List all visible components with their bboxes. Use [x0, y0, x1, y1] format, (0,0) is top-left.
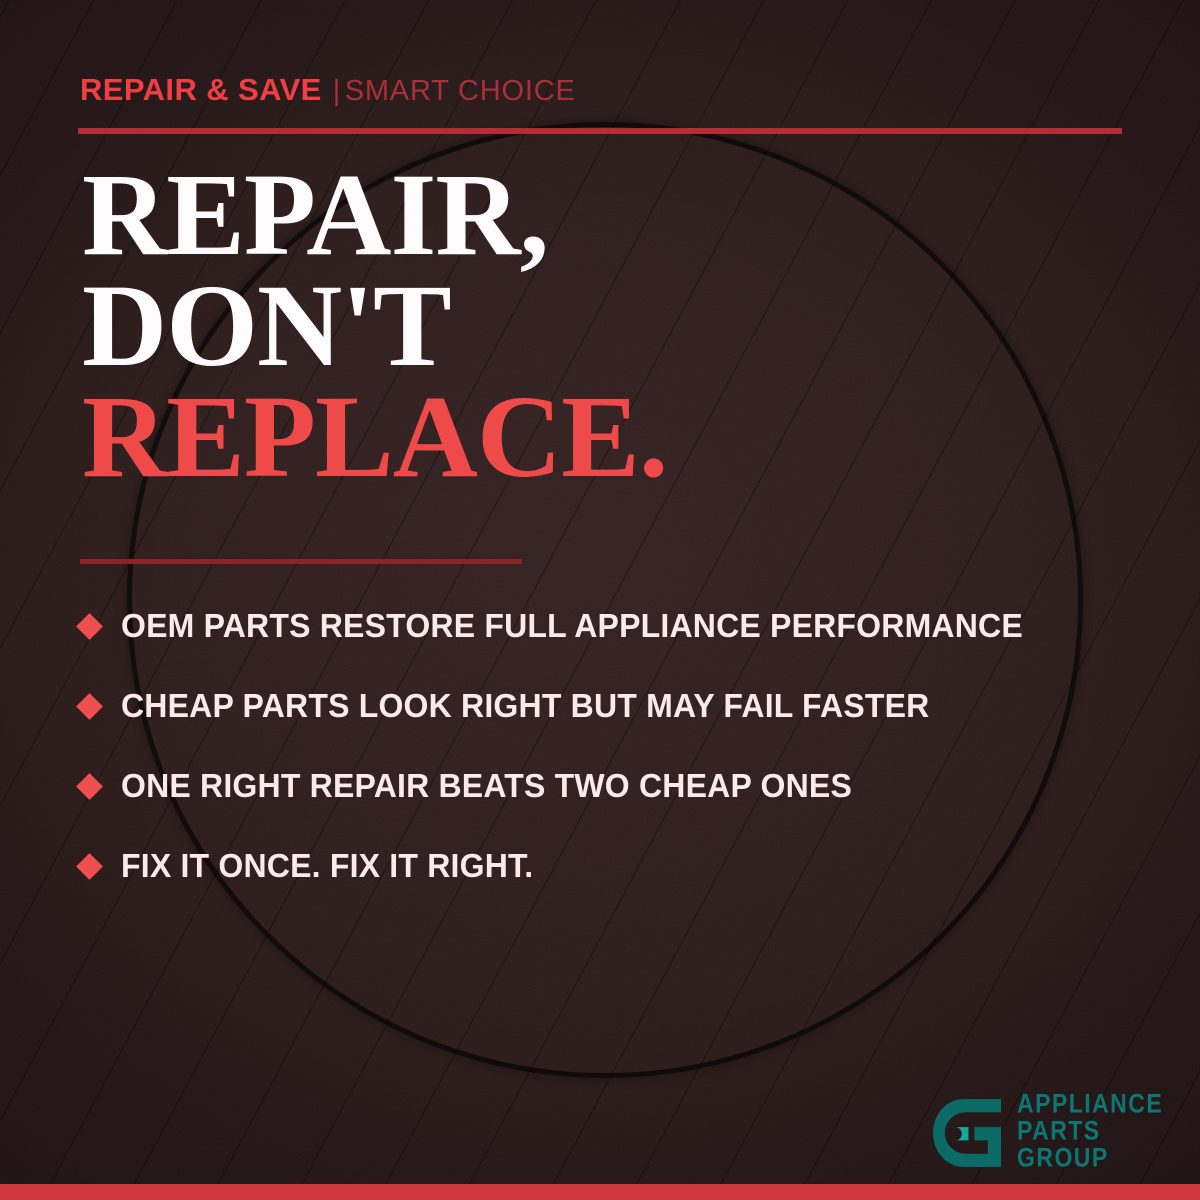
page-title: REPAIR, DON'T REPLACE. [82, 160, 667, 493]
diamond-icon [76, 693, 103, 720]
brand-word-appliance: APPLIANCE [1017, 1091, 1163, 1118]
list-item-label: FIX IT ONCE. FIX IT RIGHT. [121, 847, 533, 885]
diamond-icon [76, 853, 103, 880]
headline-line-3: REPLACE. [82, 382, 667, 493]
list-item: OEM PARTS RESTORE FULL APPLIANCE PERFORM… [80, 586, 1150, 666]
headline-line-1: REPAIR, [82, 160, 667, 271]
list-item: ONE RIGHT REPAIR BEATS TWO CHEAP ONES [80, 746, 1150, 826]
list-item: FIX IT ONCE. FIX IT RIGHT. [80, 826, 1150, 906]
brand-logo: APPLIANCE PARTS GROUP [930, 1092, 1176, 1173]
list-item: CHEAP PARTS LOOK RIGHT BUT MAY FAIL FAST… [80, 666, 1150, 746]
divider-top [78, 128, 1122, 134]
bottom-accent-bar [0, 1184, 1200, 1200]
brand-logo-wordmark: APPLIANCE PARTS GROUP [1017, 1092, 1176, 1173]
eyebrow-strong-text: REPAIR & SAVE [80, 72, 322, 107]
poster-canvas: REPAIR & SAVE|SMART CHOICE REPAIR, DON'T… [0, 0, 1200, 1200]
divider-middle [80, 559, 522, 564]
list-item-label: CHEAP PARTS LOOK RIGHT BUT MAY FAIL FAST… [121, 687, 929, 725]
diamond-icon [76, 773, 103, 800]
benefits-list: OEM PARTS RESTORE FULL APPLIANCE PERFORM… [80, 586, 1150, 906]
poster-content: REPAIR & SAVE|SMART CHOICE REPAIR, DON'T… [0, 0, 1200, 1200]
eyebrow-light-text: SMART CHOICE [345, 75, 576, 107]
eyebrow-kicker: REPAIR & SAVE|SMART CHOICE [80, 74, 576, 106]
brand-word-parts: PARTS [1017, 1118, 1163, 1145]
list-item-label: ONE RIGHT REPAIR BEATS TWO CHEAP ONES [121, 767, 852, 805]
g-monogram-icon [930, 1096, 1004, 1170]
brand-word-group: GROUP [1017, 1145, 1163, 1172]
eyebrow-separator: | [333, 75, 341, 107]
list-item-label: OEM PARTS RESTORE FULL APPLIANCE PERFORM… [121, 607, 1023, 645]
diamond-icon [76, 613, 103, 640]
headline-line-2: DON'T [82, 271, 667, 382]
